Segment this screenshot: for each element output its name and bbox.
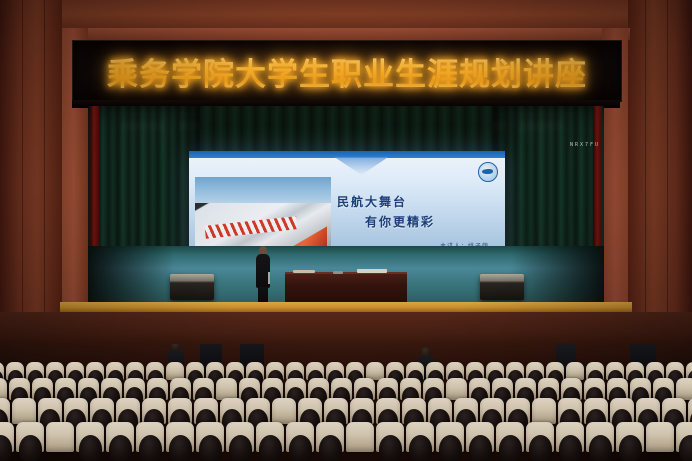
auditorium-photo: 乘务学院大学生职业生涯规划讲座 NRX7FU 民航大舞台 有你更精彩 主讲人：姚… <box>0 0 692 461</box>
slide-photo-sky <box>195 177 331 203</box>
stage-floor-shadow-left <box>88 246 174 308</box>
stage-monitor-speaker-right <box>480 274 524 300</box>
audience-member-head <box>529 435 552 461</box>
table-item <box>333 271 343 274</box>
audience-member-head <box>19 435 42 461</box>
wall-seam <box>645 0 646 340</box>
slide-headline-line-2: 有你更精彩 <box>365 213 435 230</box>
stage-floor-shadow-right <box>512 246 604 308</box>
audience-member-head <box>259 435 282 461</box>
proscenium-left-wall <box>0 0 62 340</box>
audience-member-head <box>79 435 102 461</box>
table-item <box>357 269 387 273</box>
audience-member-head <box>499 435 522 461</box>
microphone-stand-icon <box>268 272 270 284</box>
proscenium-inner-top-band <box>62 28 630 40</box>
proscenium-right-wall <box>628 0 692 340</box>
wall-seam <box>22 0 23 340</box>
audience-member-head <box>0 435 12 461</box>
stage-monitor-speaker-left <box>170 274 214 300</box>
audience-member-head <box>589 435 612 461</box>
led-banner-text: 乘务学院大学生职业生涯规划讲座 <box>107 49 587 94</box>
audience-member-head <box>289 435 312 461</box>
audience-member-head <box>319 435 342 461</box>
audience-member-head <box>139 435 162 461</box>
slide-photo-fuselage-stripes <box>205 216 298 239</box>
slide-airplane-photo <box>195 177 331 249</box>
slide-top-bar <box>189 151 505 158</box>
audience-member-head <box>229 435 252 461</box>
audience-member-head <box>169 435 192 461</box>
presenter <box>255 246 271 308</box>
slide-logo-icon <box>478 162 498 182</box>
audience-member-head <box>469 435 492 461</box>
wall-seam <box>44 0 45 340</box>
audience-member-head <box>679 435 692 461</box>
audience-member-head <box>409 435 432 461</box>
slide-headline-line-1: 民航大舞台 <box>337 193 407 210</box>
table-item <box>293 270 315 273</box>
audience-seating: 9534 <box>0 344 692 461</box>
audience-head-layer <box>0 344 692 461</box>
audience-member-head <box>379 435 402 461</box>
audience-member-head <box>439 435 462 461</box>
audience-member-head <box>559 435 582 461</box>
screen-header-text: NRX7FU <box>570 142 600 148</box>
audience-member-head <box>109 435 132 461</box>
wall-seam <box>667 0 668 340</box>
audience-member-head <box>619 435 642 461</box>
audience-member-head <box>199 435 222 461</box>
led-banner: 乘务学院大学生职业生涯规划讲座 <box>72 40 622 102</box>
